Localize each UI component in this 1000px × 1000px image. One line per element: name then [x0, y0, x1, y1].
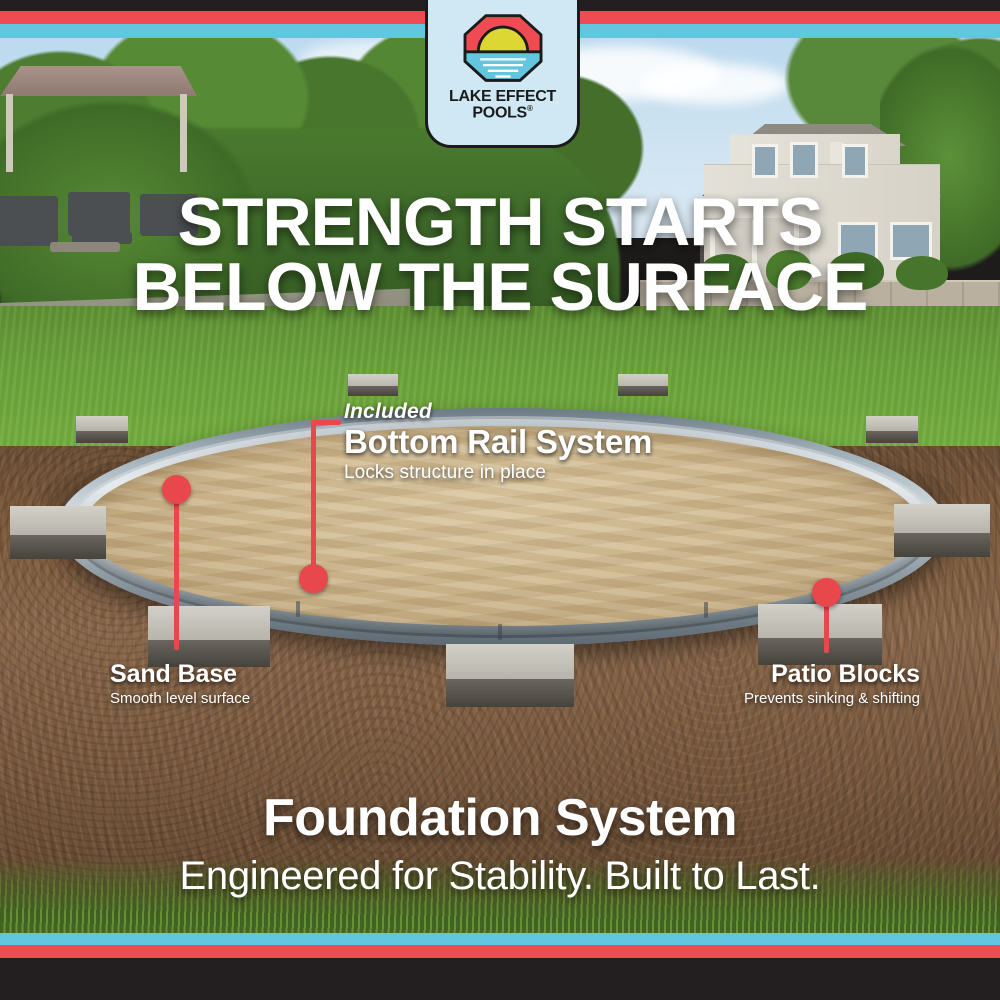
callout-dot-bottom-rail — [299, 564, 328, 593]
rail-seam — [498, 624, 502, 640]
patio-block-top — [618, 374, 668, 387]
bottom-border-dark — [0, 958, 1000, 1000]
rail-seam — [296, 601, 300, 617]
callout-sand-base: Sand Base Smooth level surface — [110, 660, 250, 707]
patio-block — [758, 604, 882, 664]
patio-block-front — [866, 431, 918, 443]
callout-subtitle: Smooth level surface — [110, 690, 250, 707]
callout-leader-line-bottom-rail — [311, 422, 316, 572]
window — [842, 144, 868, 178]
callout-bottom-rail-system: Included Bottom Rail System Locks struct… — [344, 400, 652, 484]
patio-block — [348, 374, 398, 396]
callout-leader-line-sand-base — [174, 498, 179, 650]
callout-leader-elbow-bottom-rail — [311, 420, 341, 425]
patio-block-front — [76, 431, 128, 443]
patio-block-top — [76, 416, 128, 431]
pergola-roof — [0, 66, 197, 96]
callout-title: Patio Blocks — [744, 660, 920, 689]
window — [752, 144, 778, 178]
patio-block — [866, 416, 918, 442]
callout-dot-sand-base — [162, 475, 191, 504]
patio-block — [894, 504, 990, 556]
headline-line-2: BELOW THE SURFACE — [0, 255, 1000, 320]
footer-title: Foundation System — [0, 788, 1000, 848]
pergola-post — [6, 94, 13, 172]
bottom-border-red — [0, 945, 1000, 958]
patio-block-top — [446, 644, 574, 680]
footer-subtitle: Engineered for Stability. Built to Last. — [0, 854, 1000, 899]
patio-block-top — [758, 604, 882, 639]
callout-patio-blocks: Patio Blocks Prevents sinking & shifting — [744, 660, 920, 707]
callout-eyebrow: Included — [344, 400, 652, 424]
patio-block-front — [10, 535, 106, 559]
rail-seam — [704, 602, 708, 618]
patio-block — [148, 606, 270, 666]
patio-block-top — [148, 606, 270, 641]
patio-block — [10, 506, 106, 558]
patio-block-front — [618, 386, 668, 396]
poster-root: STRENGTH STARTS BELOW THE SURFACE Includ… — [0, 0, 1000, 1000]
patio-block — [618, 374, 668, 396]
brand-wordmark-line-2: POOLS® — [449, 105, 556, 121]
brand-logo-badge[interactable]: LAKE EFFECT POOLS® — [425, 0, 580, 148]
callout-leader-line-patio-blocks — [824, 601, 829, 653]
brand-wordmark: LAKE EFFECT POOLS® — [449, 89, 556, 121]
patio-block-top — [866, 416, 918, 431]
patio-block-top — [10, 506, 106, 536]
callout-subtitle: Prevents sinking & shifting — [744, 690, 920, 707]
patio-block-front — [446, 679, 574, 708]
patio-block-top — [894, 504, 990, 534]
patio-block-front — [348, 386, 398, 396]
brand-wordmark-pools: POOLS — [472, 104, 527, 121]
brand-wordmark-line-1: LAKE EFFECT — [449, 89, 556, 105]
patio-block — [76, 416, 128, 442]
patio-block-top — [348, 374, 398, 387]
callout-title: Bottom Rail System — [344, 425, 652, 460]
registered-mark: ® — [527, 104, 533, 113]
sun-over-water-octagon-icon — [455, 10, 551, 86]
footer-block: Foundation System Engineered for Stabili… — [0, 788, 1000, 899]
pergola-post — [180, 94, 187, 172]
bottom-border-blue — [0, 933, 1000, 945]
callout-title: Sand Base — [110, 660, 250, 689]
patio-block — [446, 644, 574, 706]
page-title: STRENGTH STARTS BELOW THE SURFACE — [0, 190, 1000, 321]
window — [790, 142, 818, 178]
callout-dot-patio-blocks — [812, 578, 841, 607]
callout-subtitle: Locks structure in place — [344, 462, 652, 484]
patio-block-front — [894, 533, 990, 557]
pergola — [0, 66, 197, 166]
